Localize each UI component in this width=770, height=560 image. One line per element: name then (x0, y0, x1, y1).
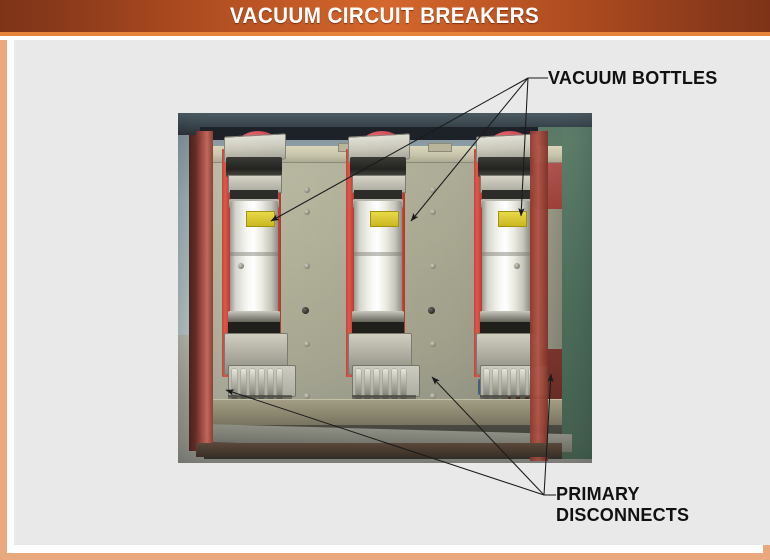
annotation-label-primary-disconnects: PRIMARY DISCONNECTS (556, 484, 689, 526)
annotation-label-vacuum-bottles: VACUUM BOTTLES (548, 68, 717, 89)
photo-vignette (178, 113, 592, 463)
annotation-line-2: DISCONNECTS (556, 505, 689, 526)
annotation-line-1: PRIMARY (556, 484, 689, 505)
breaker-photo (178, 113, 592, 463)
page-title: VACUUM CIRCUIT BREAKERS (230, 5, 539, 27)
page-root: VACUUM CIRCUIT BREAKERS (0, 0, 770, 560)
title-bar: VACUUM CIRCUIT BREAKERS (0, 0, 770, 36)
